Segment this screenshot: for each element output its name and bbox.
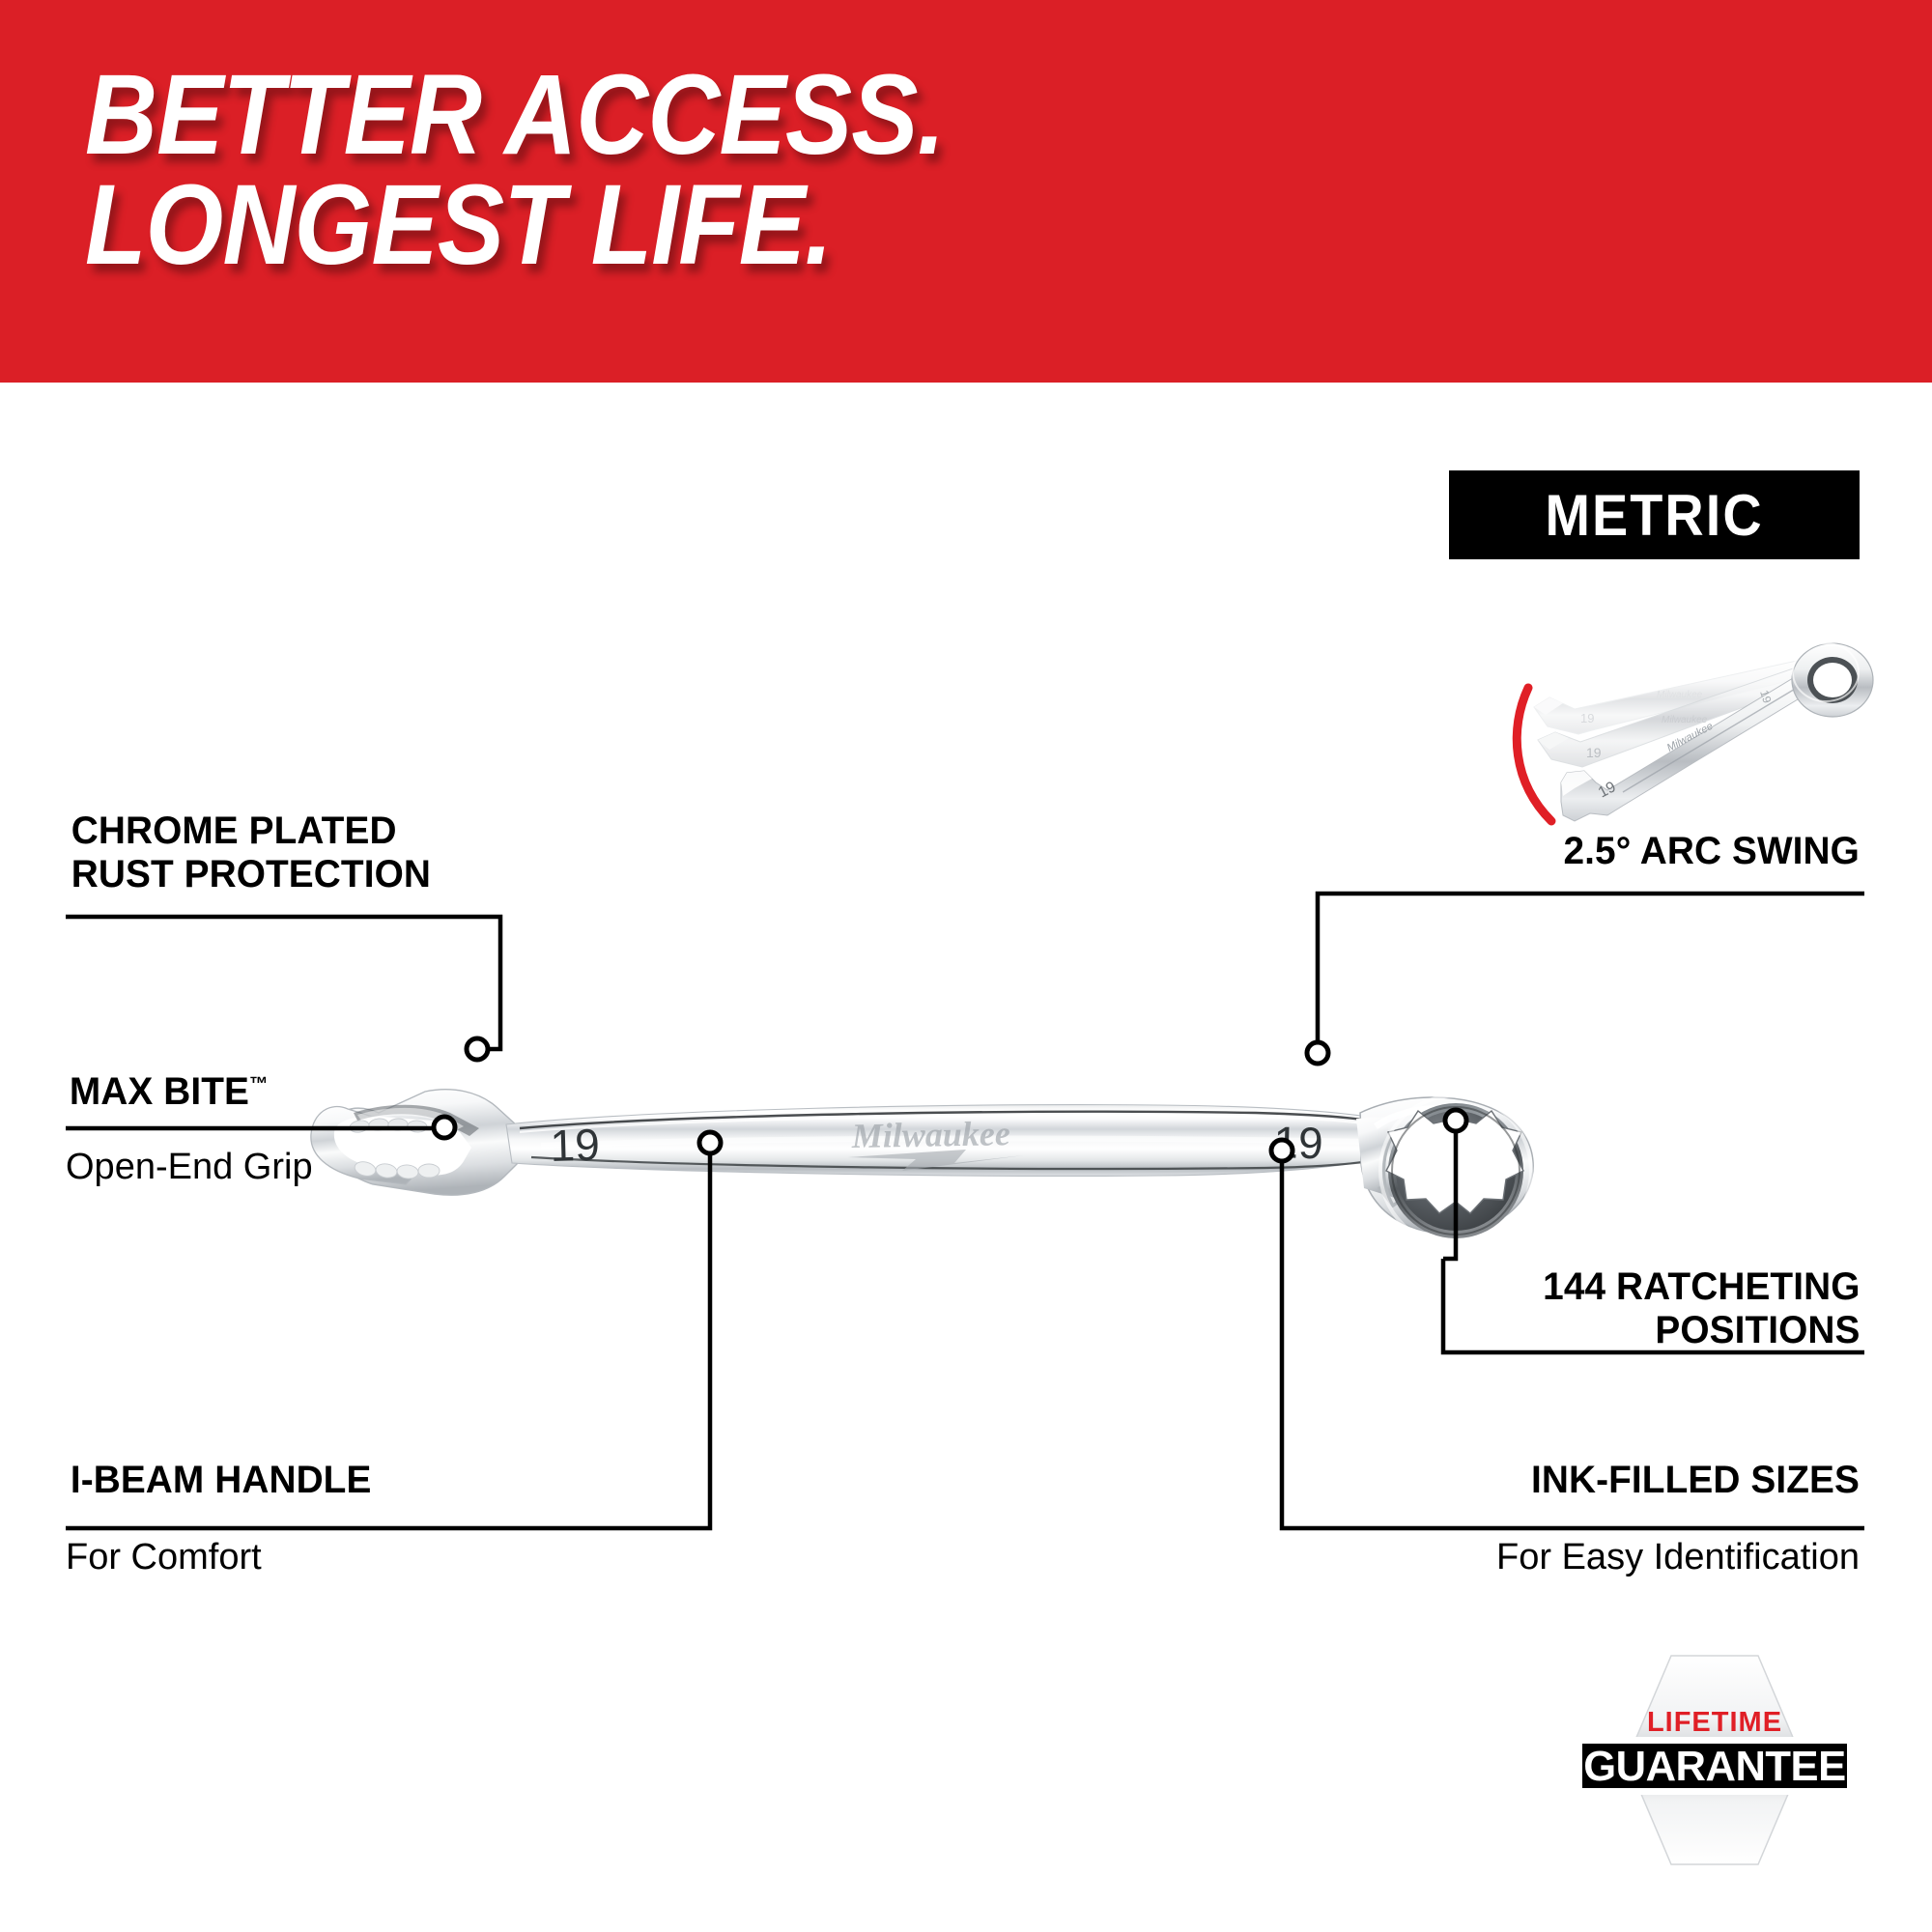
callout-i-beam-handle: I-BEAM HANDLE For Comfort: [66, 1459, 376, 1578]
callout-chrome-plated-title-line1: CHROME PLATED: [71, 810, 431, 853]
callout-arc-swing: 2.5° ARC SWING: [1554, 830, 1860, 873]
callout-i-beam-handle-title: I-BEAM HANDLE: [71, 1459, 372, 1502]
guarantee-main-label: GUARANTEE: [1583, 1743, 1845, 1790]
wrench-open-end: [311, 1090, 533, 1195]
svg-text:Milwaukee: Milwaukee: [850, 1114, 1010, 1155]
callout-max-bite-title: MAX BITE™: [70, 1070, 309, 1114]
wrench-product-image: 19 19 Milwaukee: [290, 985, 1565, 1275]
callout-ratcheting-positions: 144 RATCHETING POSITIONS: [1533, 1265, 1861, 1352]
wrench-box-end: [1356, 1095, 1533, 1246]
page-title: BETTER ACCESS. LONGEST LIFE.: [85, 60, 1360, 281]
callout-ratcheting-positions-title-line1: 144 RATCHETING: [1543, 1265, 1860, 1309]
headline-line-1: BETTER ACCESS.: [85, 60, 1360, 170]
arc-swing-illustration: 19 Milwaukee 19 Milwaukee 19 Milwaukee 1…: [1507, 638, 1932, 840]
headline-line-2: LONGEST LIFE.: [85, 170, 1360, 280]
metric-badge-label: METRIC: [1545, 482, 1763, 549]
lifetime-guarantee-badge: LIFETIME GUARANTEE: [1567, 1648, 1862, 1872]
svg-text:19: 19: [1586, 745, 1602, 760]
callout-ratcheting-positions-title-line2: POSITIONS: [1543, 1309, 1860, 1352]
callout-chrome-plated-title-line2: RUST PROTECTION: [71, 853, 431, 896]
callout-arc-swing-title: 2.5° ARC SWING: [1564, 830, 1860, 873]
size-marking-box-end: 19: [1273, 1117, 1324, 1168]
callout-max-bite: MAX BITE™ Open-End Grip: [66, 1070, 313, 1188]
size-marking-open-end: 19: [550, 1120, 601, 1171]
metric-badge: METRIC: [1449, 470, 1860, 559]
callout-ink-filled-sizes-title: INK-FILLED SIZES: [1507, 1459, 1860, 1502]
trademark-symbol: ™: [249, 1074, 268, 1095]
guarantee-lifetime-label: LIFETIME: [1647, 1707, 1782, 1738]
wrench-shank: 19 19 Milwaukee: [506, 1105, 1385, 1177]
ratchet-head-pivot: [1792, 643, 1873, 717]
callout-max-bite-subtitle: Open-End Grip: [66, 1147, 313, 1189]
callout-i-beam-handle-subtitle: For Comfort: [66, 1537, 376, 1579]
callout-ink-filled-sizes-subtitle: For Easy Identification: [1496, 1537, 1860, 1579]
infographic-page: BETTER ACCESS. LONGEST LIFE. METRIC: [0, 0, 1932, 1932]
header-banner: BETTER ACCESS. LONGEST LIFE.: [0, 0, 1932, 383]
svg-text:19: 19: [1580, 711, 1594, 725]
svg-text:Milwaukee: Milwaukee: [1662, 715, 1708, 725]
callout-ink-filled-sizes: INK-FILLED SIZES For Easy Identification: [1496, 1459, 1860, 1578]
callout-chrome-plated: CHROME PLATED RUST PROTECTION: [66, 810, 437, 896]
svg-text:Milwaukee: Milwaukee: [1657, 690, 1703, 700]
